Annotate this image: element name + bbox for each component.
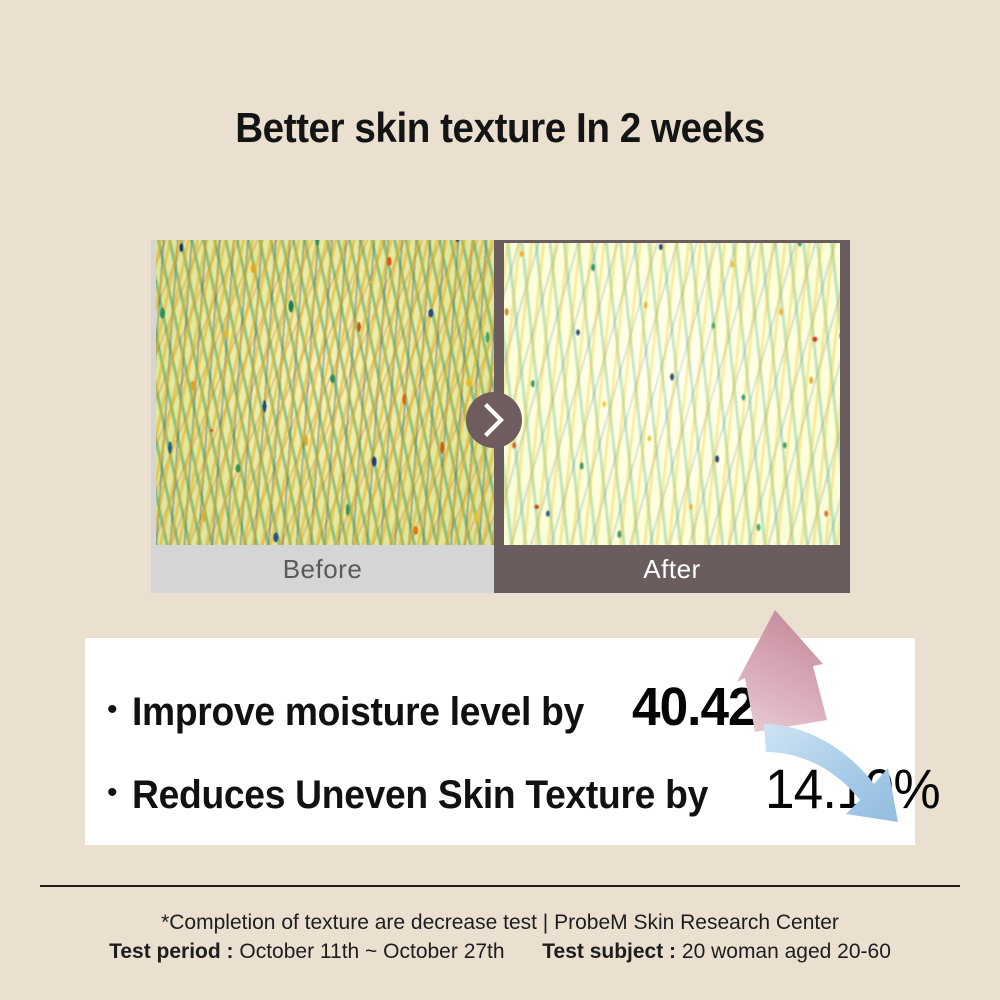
test-period-value: October 11th ~ October 27th [239,940,504,963]
claim-moisture-label: Improve moisture level by [132,690,584,735]
claims-card: • Improve moisture level by 40.42% • Red… [85,638,915,845]
footnote-test-details: Test period : October 11th ~ October 27t… [0,940,1000,964]
bullet-icon: • [107,778,118,808]
before-image [156,240,494,545]
before-after-comparison: Before After [151,240,850,593]
bullet-icon: • [107,695,118,725]
test-subject-value: 20 woman aged 20-60 [682,940,891,963]
claim-texture-label: Reduces Uneven Skin Texture by [132,773,708,818]
skin-texture-before-graphic [156,240,494,545]
before-panel: Before [151,240,494,593]
skin-texture-after-graphic [504,243,840,545]
after-panel: After [494,240,850,593]
footer-divider [40,885,960,887]
claim-texture-value: 14.19% [765,756,940,821]
claim-moisture-value: 40.42% [632,676,800,738]
page-title: Better skin texture In 2 weeks [40,104,960,152]
claim-moisture: • Improve moisture level by 40.42% [107,676,809,738]
test-period-label: Test period : [109,940,233,963]
footnote-source: *Completion of texture are decrease test… [0,911,1000,935]
test-subject-label: Test subject : [542,940,676,963]
after-caption: After [494,545,850,593]
chevron-right-icon[interactable] [466,392,522,448]
claim-texture: • Reduces Uneven Skin Texture by 14.19% [107,756,949,821]
before-caption: Before [151,545,494,593]
after-image [504,243,840,545]
